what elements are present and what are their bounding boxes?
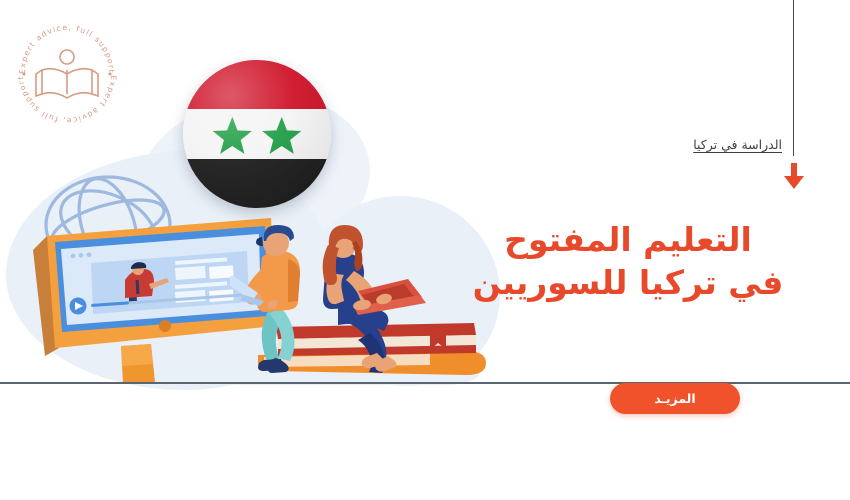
open-book-reader-icon: [36, 50, 98, 98]
vertical-rule: [793, 0, 794, 156]
expert-advice-seal-logo: Expert advice, full support Expert advic…: [8, 14, 126, 124]
page-title: التعليم المفتوح في تركيا للسوريين: [458, 219, 798, 305]
more-button[interactable]: المزيـد: [610, 383, 740, 414]
flag-gloss-overlay: [183, 60, 331, 208]
breadcrumb[interactable]: الدراسة في تركيا: [693, 137, 782, 152]
banner-canvas: Expert advice, full support Expert advic…: [0, 0, 850, 500]
page-title-line-2: في تركيا للسوريين: [458, 262, 798, 305]
syria-flag-badge: [183, 60, 331, 208]
svg-text:Expert advice, full support: Expert advice, full support: [18, 23, 116, 74]
down-arrow-icon: [783, 163, 805, 189]
seal-text-top: Expert advice, full support: [18, 23, 116, 74]
page-title-line-1: التعليم المفتوح: [458, 219, 798, 262]
